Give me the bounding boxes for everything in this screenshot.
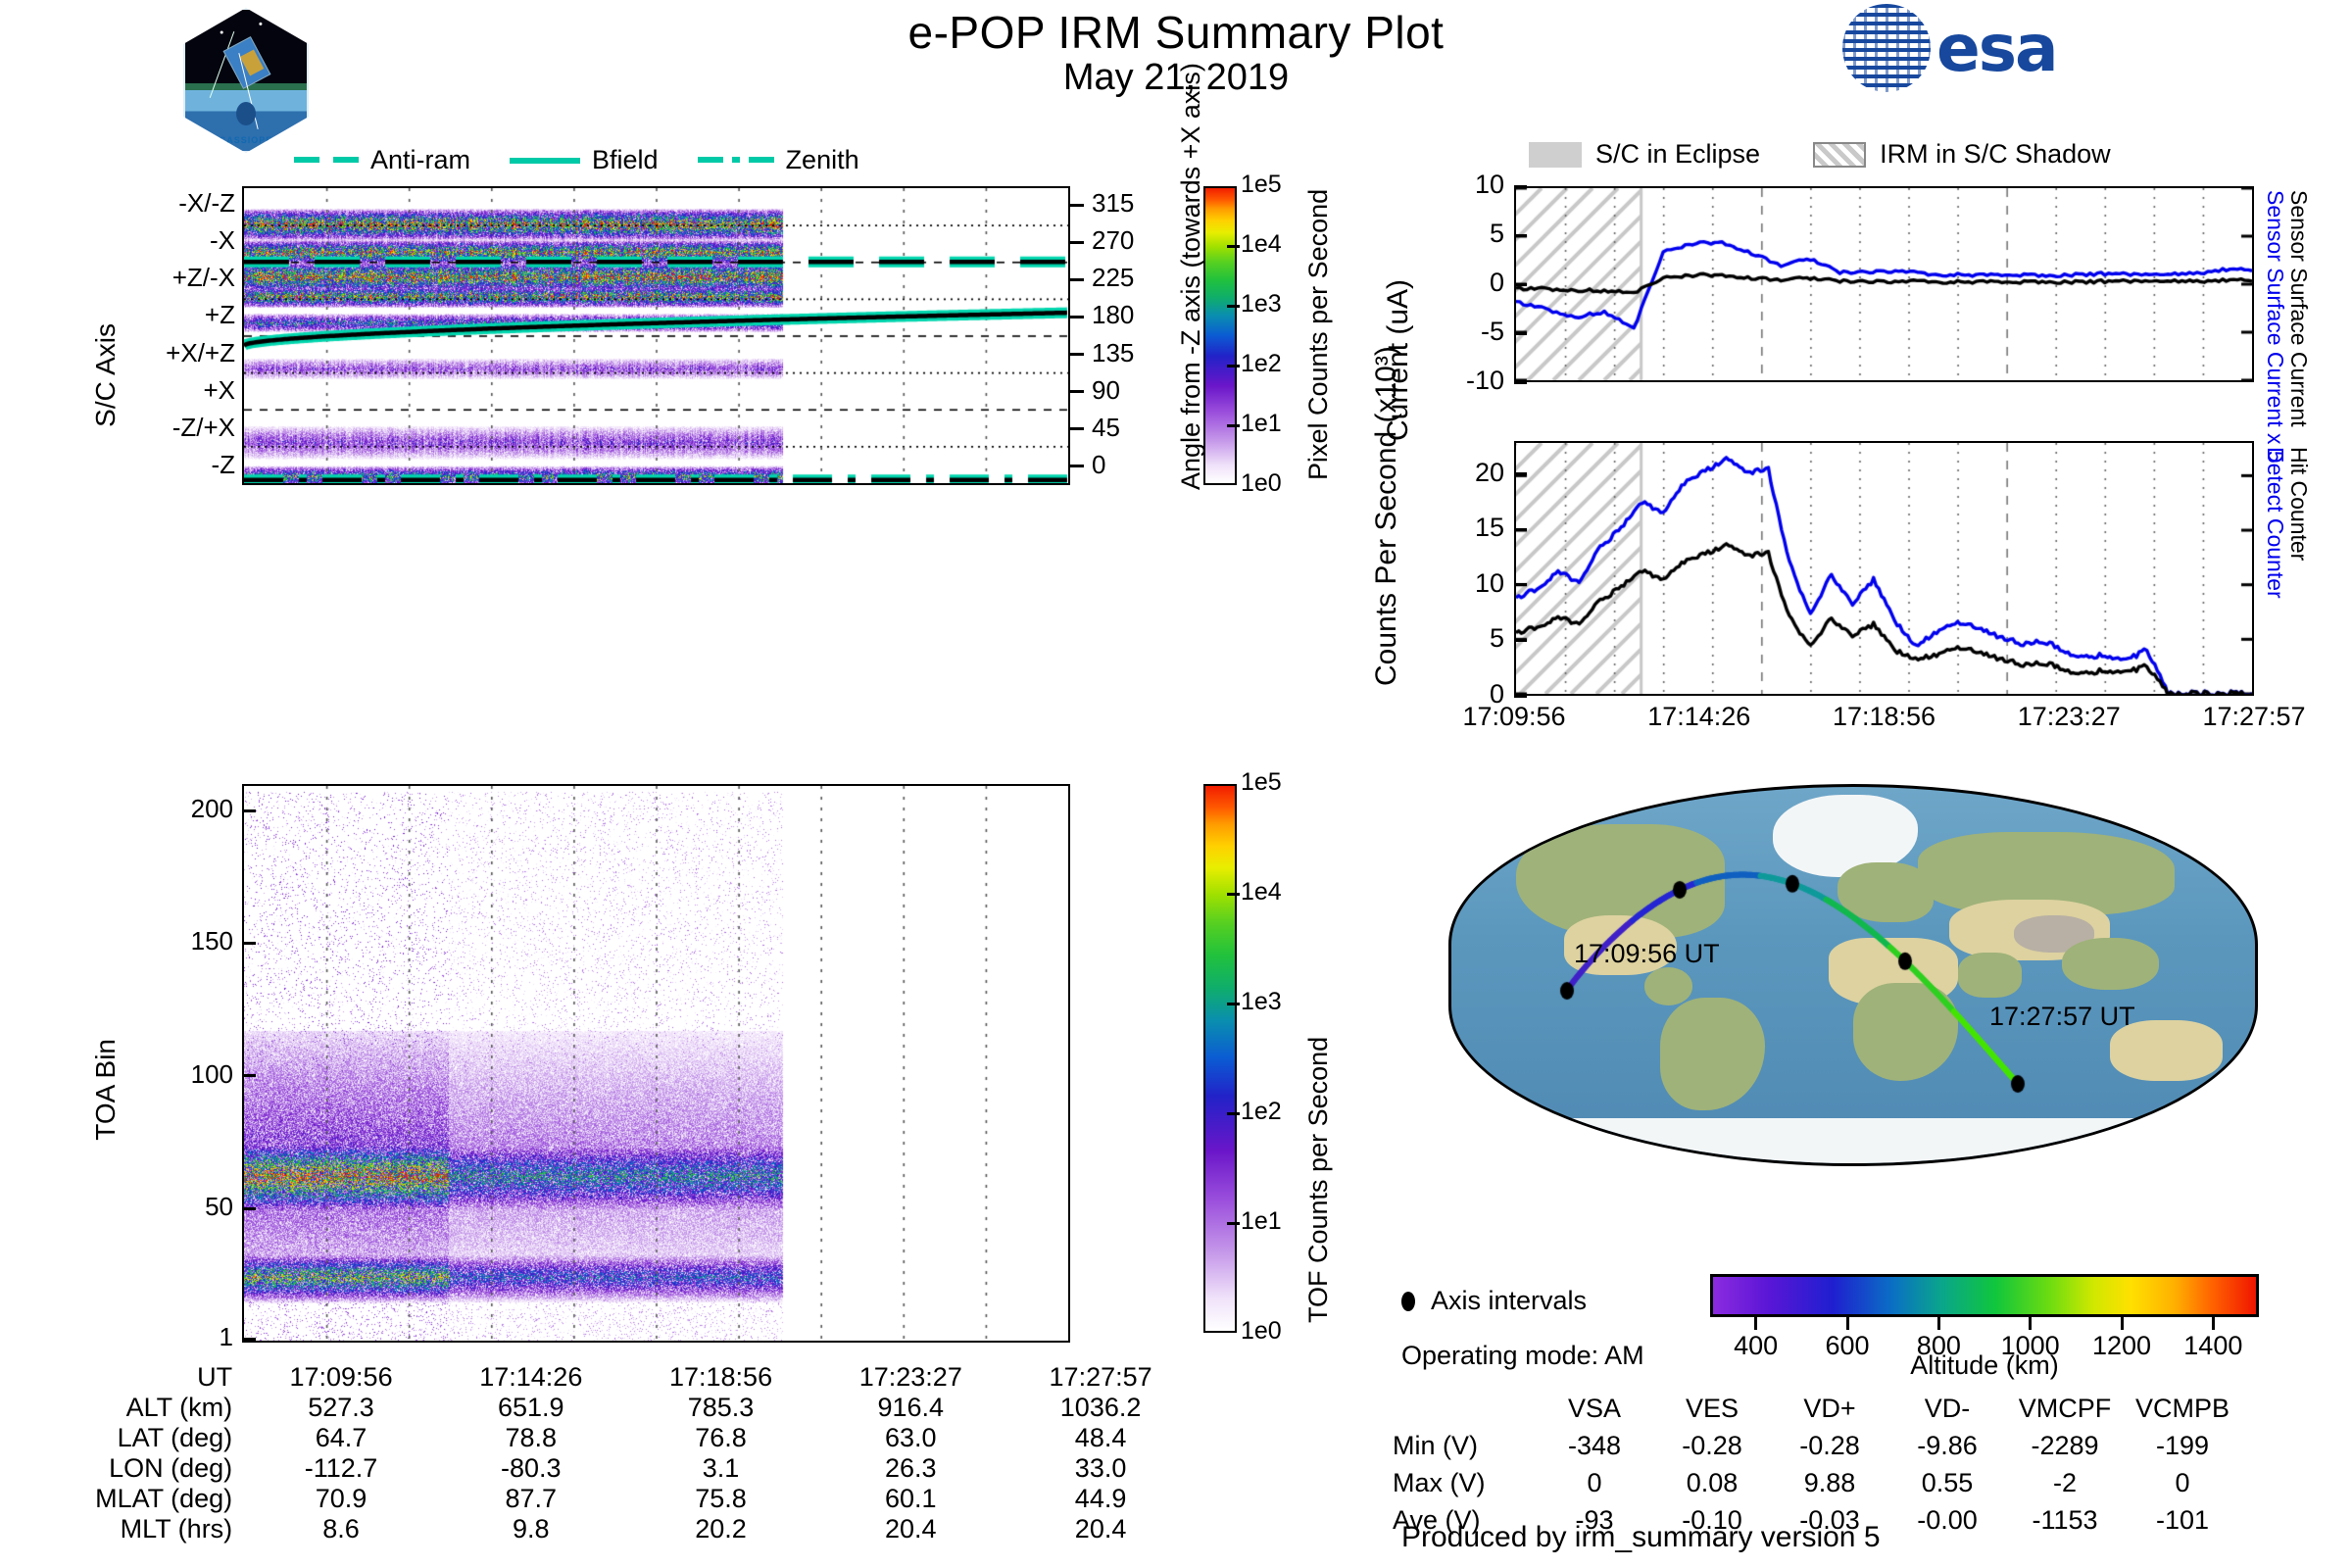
current-right-label-black: Sensor Surface Current bbox=[2285, 190, 2312, 427]
orbit-cell: -112.7 bbox=[246, 1453, 436, 1484]
voltage-row-label: Min (V) bbox=[1392, 1427, 1536, 1464]
angle-ytick-5: +X bbox=[118, 375, 235, 406]
angle-right-tickmark-7 bbox=[1070, 465, 1084, 467]
angle-right-tickmark-0 bbox=[1070, 204, 1084, 207]
mission-patch: CASSIOPE bbox=[183, 8, 309, 153]
orbit-cell: 87.7 bbox=[436, 1484, 626, 1514]
operating-mode-label: Operating mode: AM bbox=[1401, 1341, 1644, 1371]
counts-right-label-blue: Detect Counter bbox=[2262, 447, 2288, 599]
cb1ticks-label-1: 1e4 bbox=[1241, 230, 1282, 259]
toa-ytickmark-0 bbox=[242, 809, 256, 812]
cb2ticks-label-1: 1e4 bbox=[1241, 878, 1282, 906]
orbit-cell: 44.9 bbox=[1005, 1484, 1196, 1514]
cb1ticks-mark-1 bbox=[1227, 245, 1240, 248]
orbit-cell: 33.0 bbox=[1005, 1453, 1196, 1484]
orbit-table-row: MLAT (deg)70.987.775.860.144.9 bbox=[39, 1484, 1196, 1514]
orbit-cell: 20.2 bbox=[626, 1514, 816, 1544]
orbit-cell: 20.4 bbox=[815, 1514, 1005, 1544]
altitude-tickmark-5 bbox=[2212, 1317, 2215, 1330]
orbit-cell: 76.8 bbox=[626, 1423, 816, 1453]
voltage-column-header: VD+ bbox=[1771, 1390, 1888, 1427]
orbit-cell: 651.9 bbox=[436, 1393, 626, 1423]
voltage-cell: -1153 bbox=[2006, 1501, 2124, 1539]
orbit-row-label: LON (deg) bbox=[39, 1453, 246, 1484]
counts-ytick-0: 20 bbox=[1401, 458, 1504, 488]
map-ocean bbox=[1448, 784, 2258, 1166]
toa-ytickmark-2 bbox=[242, 1074, 256, 1077]
voltage-row-label: Max (V) bbox=[1392, 1464, 1536, 1501]
current-ytickmark-1 bbox=[1514, 234, 1527, 237]
toa-ytick-2: 100 bbox=[118, 1059, 233, 1090]
voltage-column-header: VCMPB bbox=[2124, 1390, 2241, 1427]
orbit-cell: 17:23:27 bbox=[815, 1362, 1005, 1393]
orbit-cell: 20.4 bbox=[1005, 1514, 1196, 1544]
footer-produced-by: Produced by irm_summary version 5 bbox=[1401, 1521, 1881, 1554]
altitude-tickmark-3 bbox=[2029, 1317, 2032, 1330]
current-ytick-4: -10 bbox=[1401, 366, 1504, 396]
orbit-table-row: MLT (hrs)8.69.820.220.420.4 bbox=[39, 1514, 1196, 1544]
angle-ytick-4: +X/+Z bbox=[118, 338, 235, 368]
voltage-cell: 0 bbox=[1536, 1464, 1653, 1501]
orbit-table-row: UT17:09:5617:14:2617:18:5617:23:2717:27:… bbox=[39, 1362, 1196, 1393]
voltage-cell: -2289 bbox=[2006, 1427, 2124, 1464]
orbit-cell: 9.8 bbox=[436, 1514, 626, 1544]
cb1ticks-mark-2 bbox=[1227, 305, 1240, 308]
legend-label-bfield: Bfield bbox=[592, 145, 659, 175]
angle-ytick-6: -Z/+X bbox=[118, 413, 235, 443]
eclipse-shadow-legend: S/C in Eclipse IRM in S/C Shadow bbox=[1529, 139, 2111, 170]
altitude-tickmark-1 bbox=[1846, 1317, 1849, 1330]
mission-patch-label: CASSIOPE bbox=[185, 135, 307, 145]
cb2ticks-mark-3 bbox=[1227, 1112, 1240, 1115]
toa-spectrogram-panel[interactable] bbox=[242, 784, 1070, 1343]
angle-ytick-7: -Z bbox=[118, 450, 235, 480]
orbit-cell: 26.3 bbox=[815, 1453, 1005, 1484]
orbit-table-row: LAT (deg)64.778.876.863.048.4 bbox=[39, 1423, 1196, 1453]
voltage-table-header-row: VSAVESVD+VD-VMCPFVCMPB bbox=[1392, 1390, 2241, 1427]
counts-ytickmark-4 bbox=[1514, 695, 1527, 698]
voltage-cell: -0.00 bbox=[1888, 1501, 2006, 1539]
toa-ytickmark-1 bbox=[242, 942, 256, 945]
counts-ytick-1: 15 bbox=[1401, 513, 1504, 543]
orbit-row-label: ALT (km) bbox=[39, 1393, 246, 1423]
voltage-summary-table: VSAVESVD+VD-VMCPFVCMPBMin (V)-348-0.28-0… bbox=[1392, 1390, 2241, 1539]
altitude-colorbar-label: Altitude (km) bbox=[1710, 1350, 2259, 1381]
eclipse-swatch-icon bbox=[1529, 142, 1582, 168]
counts-ytickmark-1 bbox=[1514, 528, 1527, 531]
orbit-cell: 8.6 bbox=[246, 1514, 436, 1544]
current-ytick-0: 10 bbox=[1401, 170, 1504, 200]
voltage-cell: -101 bbox=[2124, 1501, 2241, 1539]
voltage-cell: 0 bbox=[2124, 1464, 2241, 1501]
voltage-cell: 0.55 bbox=[1888, 1464, 2006, 1501]
voltage-cell: -9.86 bbox=[1888, 1427, 2006, 1464]
zenith-line-icon bbox=[698, 152, 774, 170]
voltage-cell: -0.28 bbox=[1771, 1427, 1888, 1464]
angle-right-tick-4: 135 bbox=[1092, 338, 1160, 368]
orbit-cell: 17:18:56 bbox=[626, 1362, 816, 1393]
voltage-cell: 0.08 bbox=[1653, 1464, 1771, 1501]
cb2ticks-mark-2 bbox=[1227, 1003, 1240, 1005]
cb1ticks-label-4: 1e1 bbox=[1241, 410, 1282, 438]
orbit-cell: 916.4 bbox=[815, 1393, 1005, 1423]
orbit-table-row: ALT (km)527.3651.9785.3916.41036.2 bbox=[39, 1393, 1196, 1423]
counts-right-label-black: Hit Counter bbox=[2285, 447, 2312, 561]
voltage-column-header: VES bbox=[1653, 1390, 1771, 1427]
counts-xtick-0: 17:09:56 bbox=[1431, 702, 1597, 732]
toa-ytick-0: 200 bbox=[118, 794, 233, 824]
orbit-cell: 785.3 bbox=[626, 1393, 816, 1423]
legend-item-shadow: IRM in S/C Shadow bbox=[1813, 139, 2111, 170]
altitude-tickmark-4 bbox=[2121, 1317, 2124, 1330]
current-ytick-1: 5 bbox=[1401, 219, 1504, 249]
toa-ytick-4: 1 bbox=[118, 1322, 233, 1352]
angle-right-tick-5: 90 bbox=[1092, 375, 1160, 406]
legend-label-eclipse: S/C in Eclipse bbox=[1595, 139, 1760, 170]
toa-ytick-1: 150 bbox=[118, 926, 233, 956]
cb2ticks-label-4: 1e1 bbox=[1241, 1207, 1282, 1236]
esa-globe-icon bbox=[1842, 4, 1931, 92]
cb1ticks-mark-4 bbox=[1227, 424, 1240, 427]
angle-right-tickmark-2 bbox=[1070, 278, 1084, 281]
legend-label-anti-ram: Anti-ram bbox=[370, 145, 470, 175]
cb2ticks-label-5: 1e0 bbox=[1241, 1317, 1282, 1346]
orbit-cell: 70.9 bbox=[246, 1484, 436, 1514]
toa-ytick-3: 50 bbox=[118, 1192, 233, 1222]
legend-item-bfield: Bfield bbox=[510, 145, 659, 175]
cb2ticks-mark-1 bbox=[1227, 893, 1240, 896]
cb2ticks-mark-4 bbox=[1227, 1222, 1240, 1225]
toa-ytickmark-4 bbox=[242, 1338, 256, 1341]
voltage-cell: -199 bbox=[2124, 1427, 2241, 1464]
tof-counts-colorbar: 1e51e41e31e21e11e0 bbox=[1203, 784, 1237, 1333]
toa-ytickmark-3 bbox=[242, 1207, 256, 1210]
voltage-column-header: VMCPF bbox=[2006, 1390, 2124, 1427]
ground-track-map[interactable]: 17:09:56 UT 17:27:57 UT bbox=[1448, 784, 2258, 1166]
angle-right-tick-6: 45 bbox=[1092, 413, 1160, 443]
angle-right-tickmark-5 bbox=[1070, 390, 1084, 393]
orbit-cell: 17:27:57 bbox=[1005, 1362, 1196, 1393]
counts-ytick-3: 5 bbox=[1401, 623, 1504, 654]
angle-right-tickmark-1 bbox=[1070, 241, 1084, 244]
pixel-counts-colorbar: 1e51e41e31e21e11e0 bbox=[1203, 186, 1237, 485]
counts-xtick-3: 17:23:27 bbox=[1985, 702, 2152, 732]
track-end-label: 17:27:57 UT bbox=[1989, 1002, 2135, 1032]
anti-ram-line-icon bbox=[294, 152, 359, 170]
angle-ytick-1: -X bbox=[118, 225, 235, 256]
current-ytickmark-2 bbox=[1514, 283, 1527, 286]
tof-counts-colorbar-label: TOF Counts per Second bbox=[1303, 813, 1334, 1323]
orbit-cell: 78.8 bbox=[436, 1423, 626, 1453]
voltage-cell: -0.28 bbox=[1653, 1427, 1771, 1464]
orbit-cell: 1036.2 bbox=[1005, 1393, 1196, 1423]
pixel-counts-colorbar-label: Pixel Counts per Second bbox=[1303, 196, 1334, 480]
shadow-hatch-icon bbox=[1813, 142, 1866, 168]
angle-right-tick-0: 315 bbox=[1092, 188, 1160, 219]
orbit-cell: 75.8 bbox=[626, 1484, 816, 1514]
track-start-label: 17:09:56 UT bbox=[1574, 939, 1720, 969]
current-ytickmark-0 bbox=[1514, 185, 1527, 188]
cb1ticks-mark-3 bbox=[1227, 365, 1240, 367]
orbit-cell: 3.1 bbox=[626, 1453, 816, 1484]
orbit-cell: 48.4 bbox=[1005, 1423, 1196, 1453]
voltage-table-row: Min (V)-348-0.28-0.28-9.86-2289-199 bbox=[1392, 1427, 2241, 1464]
orbit-cell: 17:14:26 bbox=[436, 1362, 626, 1393]
counts-xtick-1: 17:14:26 bbox=[1616, 702, 1783, 732]
bfield-line-icon bbox=[510, 158, 580, 164]
angle-right-tick-2: 225 bbox=[1092, 263, 1160, 293]
counts-xtick-4: 17:27:57 bbox=[2171, 702, 2337, 732]
angle-right-tick-1: 270 bbox=[1092, 225, 1160, 256]
esa-logo: esa bbox=[1842, 4, 2254, 94]
axis-interval-label: Axis intervals bbox=[1431, 1286, 1587, 1316]
counts-ytickmark-2 bbox=[1514, 583, 1527, 586]
orbit-cell: 60.1 bbox=[815, 1484, 1005, 1514]
voltage-column-header: VD- bbox=[1888, 1390, 2006, 1427]
orbit-cell: 64.7 bbox=[246, 1423, 436, 1453]
voltage-column-header: VSA bbox=[1536, 1390, 1653, 1427]
axis-interval-legend: Axis intervals bbox=[1401, 1286, 1587, 1316]
counts-ytickmark-0 bbox=[1514, 472, 1527, 475]
angle-ytick-3: +Z bbox=[118, 300, 235, 330]
current-ytickmark-4 bbox=[1514, 381, 1527, 384]
angle-panel-right-axis-label: Angle from -Z axis (towards +X axis) bbox=[1176, 206, 1206, 490]
legend-label-zenith: Zenith bbox=[786, 145, 859, 175]
angle-right-tickmark-4 bbox=[1070, 353, 1084, 356]
voltage-header-spacer bbox=[1392, 1390, 1536, 1427]
counts-ytickmark-3 bbox=[1514, 639, 1527, 642]
angle-spectrogram-panel[interactable] bbox=[242, 186, 1070, 485]
voltage-cell: 9.88 bbox=[1771, 1464, 1888, 1501]
legend-item-zenith: Zenith bbox=[698, 145, 859, 175]
altitude-tickmark-0 bbox=[1754, 1317, 1757, 1330]
axis-interval-dot-icon bbox=[1401, 1292, 1415, 1311]
angle-ytick-2: +Z/-X bbox=[118, 263, 235, 293]
counts-ytick-2: 10 bbox=[1401, 568, 1504, 599]
angle-right-tickmark-6 bbox=[1070, 427, 1084, 430]
cb1ticks-label-2: 1e3 bbox=[1241, 290, 1282, 318]
voltage-cell: -348 bbox=[1536, 1427, 1653, 1464]
legend-item-eclipse: S/C in Eclipse bbox=[1529, 139, 1760, 170]
counts-panel-ylabel: Counts Per Second (x10³) bbox=[1370, 441, 1404, 686]
orbit-parameter-table: UT17:09:5617:14:2617:18:5617:23:2717:27:… bbox=[39, 1362, 1196, 1544]
voltage-table-row: Max (V)00.089.880.55-20 bbox=[1392, 1464, 2241, 1501]
orbit-cell: -80.3 bbox=[436, 1453, 626, 1484]
cb2ticks-label-0: 1e5 bbox=[1241, 768, 1282, 797]
current-ytick-2: 0 bbox=[1401, 268, 1504, 298]
angle-right-tick-3: 180 bbox=[1092, 300, 1160, 330]
orbit-table-row: LON (deg)-112.7-80.33.126.333.0 bbox=[39, 1453, 1196, 1484]
current-right-label-blue: Sensor Surface Current x 5 bbox=[2262, 190, 2288, 464]
orbit-cell: 527.3 bbox=[246, 1393, 436, 1423]
orbit-row-label: MLAT (deg) bbox=[39, 1484, 246, 1514]
current-ytick-3: -5 bbox=[1401, 317, 1504, 347]
orbit-cell: 17:09:56 bbox=[246, 1362, 436, 1393]
angle-ytick-0: -X/-Z bbox=[118, 188, 235, 219]
current-panel[interactable] bbox=[1514, 186, 2254, 382]
esa-wordmark: esa bbox=[1936, 11, 2057, 86]
legend-item-anti-ram: Anti-ram bbox=[294, 145, 470, 175]
voltage-cell: -2 bbox=[2006, 1464, 2124, 1501]
angle-panel-legend: Anti-ram Bfield Zenith bbox=[294, 145, 1039, 175]
cb1ticks-label-3: 1e2 bbox=[1241, 350, 1282, 378]
altitude-tickmark-2 bbox=[1937, 1317, 1940, 1330]
orbit-row-label: MLT (hrs) bbox=[39, 1514, 246, 1544]
orbit-row-label: UT bbox=[39, 1362, 246, 1393]
angle-right-tickmark-3 bbox=[1070, 316, 1084, 318]
orbit-cell: 63.0 bbox=[815, 1423, 1005, 1453]
cb2ticks-label-3: 1e2 bbox=[1241, 1098, 1282, 1126]
angle-right-tick-7: 0 bbox=[1092, 450, 1160, 480]
cb1ticks-label-5: 1e0 bbox=[1241, 469, 1282, 498]
orbit-row-label: LAT (deg) bbox=[39, 1423, 246, 1453]
cb1ticks-label-0: 1e5 bbox=[1241, 171, 1282, 199]
legend-label-shadow: IRM in S/C Shadow bbox=[1880, 139, 2111, 170]
counts-panel[interactable] bbox=[1514, 441, 2254, 696]
cb2ticks-label-2: 1e3 bbox=[1241, 988, 1282, 1016]
counts-xtick-2: 17:18:56 bbox=[1801, 702, 1968, 732]
current-ytickmark-3 bbox=[1514, 332, 1527, 335]
